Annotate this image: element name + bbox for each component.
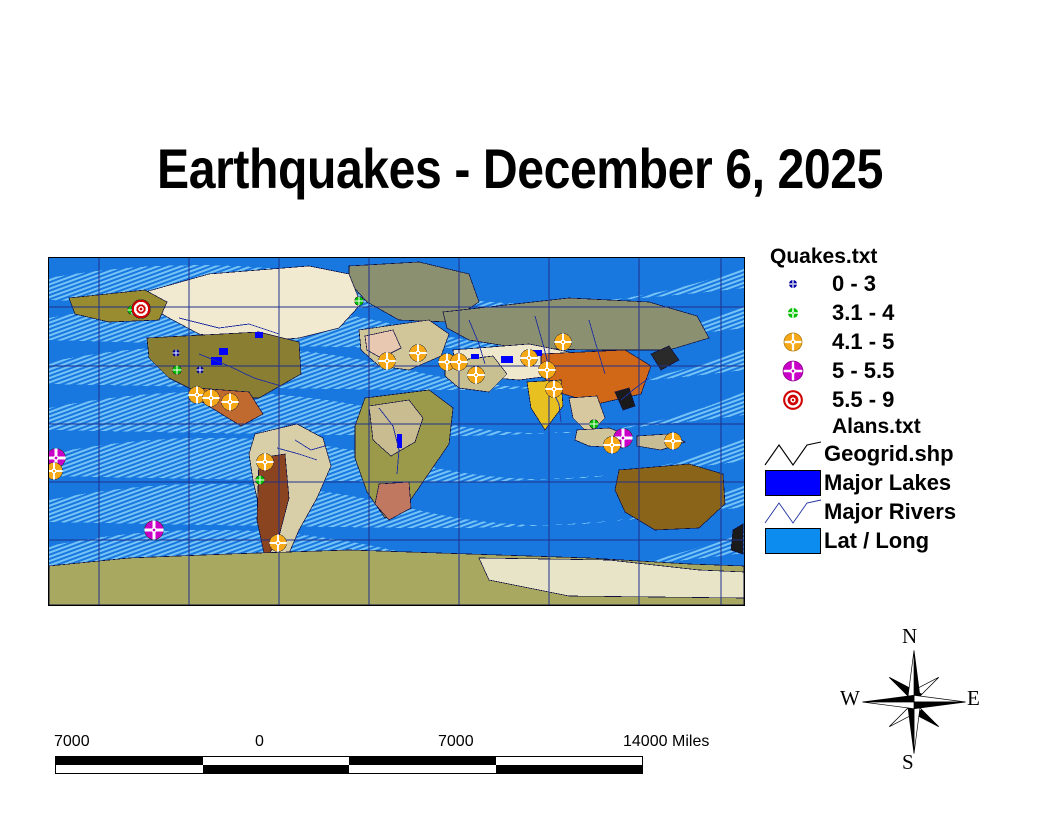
quake-marker[interactable] [379,353,396,370]
legend-row-geogrid[interactable]: Geogrid.shp [762,439,1052,468]
target-marker-icon [762,269,824,298]
scale-bar-graphic [55,756,643,774]
legend-label-major-rivers: Major Rivers [824,500,956,524]
legend-row-mag-0-3[interactable]: 0 - 3 [762,269,1052,298]
quake-marker[interactable] [256,476,265,485]
compass-label-west: W [840,688,860,709]
quake-marker[interactable] [197,367,204,374]
quake-marker[interactable] [604,437,621,454]
legend-label-mag-4.1-5: 4.1 - 5 [824,330,894,354]
legend-label-mag-5-5.5: 5 - 5.5 [824,359,894,383]
legend-label-mag-5.5-9: 5.5 - 9 [824,388,894,412]
zigzag-line-icon [762,439,824,468]
quake-marker[interactable] [173,366,182,375]
legend-label-mag-3.1-4: 3.1 - 4 [824,301,894,325]
zigzag-line-icon [762,497,824,526]
quake-marker[interactable] [521,350,538,367]
legend-row-lat-long[interactable]: Lat / Long [762,526,1052,555]
scale-label-2: 7000 [438,733,474,751]
quake-marker[interactable] [665,433,682,450]
page-title: Earthquakes - December 6, 2025 [73,139,967,199]
scale-label-3: 14000 [623,733,668,751]
quake-marker[interactable] [539,362,556,379]
quake-marker[interactable] [590,420,599,429]
target-marker-icon [762,327,824,356]
legend-label-mag-0-3: 0 - 3 [824,272,876,296]
quake-marker[interactable] [355,297,364,306]
compass-rose: N S E W [834,622,994,782]
legend-label-major-lakes: Major Lakes [824,471,951,495]
quake-marker[interactable] [203,390,220,407]
quake-marker[interactable] [468,367,485,384]
quake-marker[interactable] [222,394,239,411]
quake-marker[interactable] [257,454,274,471]
quake-marker[interactable] [145,521,164,540]
legend-row-mag-3.1-4[interactable]: 3.1 - 4 [762,298,1052,327]
legend-header-alans: Alans.txt [762,414,1052,439]
scale-bar: 7000 0 7000 14000 [55,733,655,774]
compass-label-north: N [902,626,917,647]
scale-bar-unit: Miles [672,733,709,751]
compass-star-icon [858,646,970,758]
scale-label-1: 0 [255,733,264,751]
legend-label-geogrid: Geogrid.shp [824,442,954,466]
quake-marker[interactable] [132,300,151,319]
legend-row-mag-5.5-9[interactable]: 5.5 - 9 [762,385,1052,414]
scale-label-0: 7000 [54,733,90,751]
legend-row-mag-5-5.5[interactable]: 5 - 5.5 [762,356,1052,385]
filled-box-icon [762,468,824,497]
quake-marker[interactable] [270,535,287,552]
legend-row-major-lakes[interactable]: Major Lakes [762,468,1052,497]
target-marker-icon [762,356,824,385]
quake-marker[interactable] [555,334,572,351]
legend-row-major-rivers[interactable]: Major Rivers [762,497,1052,526]
quake-marker[interactable] [546,381,563,398]
quake-marker[interactable] [173,350,180,357]
map-legend: Quakes.txt 0 - 3 3.1 - 4 4.1 - 5 5 - 5.5… [762,244,1052,555]
legend-label-lat-long: Lat / Long [824,529,929,553]
legend-header-quakes: Quakes.txt [762,244,1052,269]
scale-bar-labels: 7000 0 7000 14000 [55,733,655,753]
map-viewport[interactable] [48,257,745,606]
map-canvas[interactable] [49,258,744,605]
filled-box-icon [762,526,824,555]
bullseye-marker-icon [762,385,824,414]
target-marker-icon [762,298,824,327]
legend-row-mag-4.1-5[interactable]: 4.1 - 5 [762,327,1052,356]
quake-marker[interactable] [451,354,468,371]
quake-marker[interactable] [410,345,427,362]
